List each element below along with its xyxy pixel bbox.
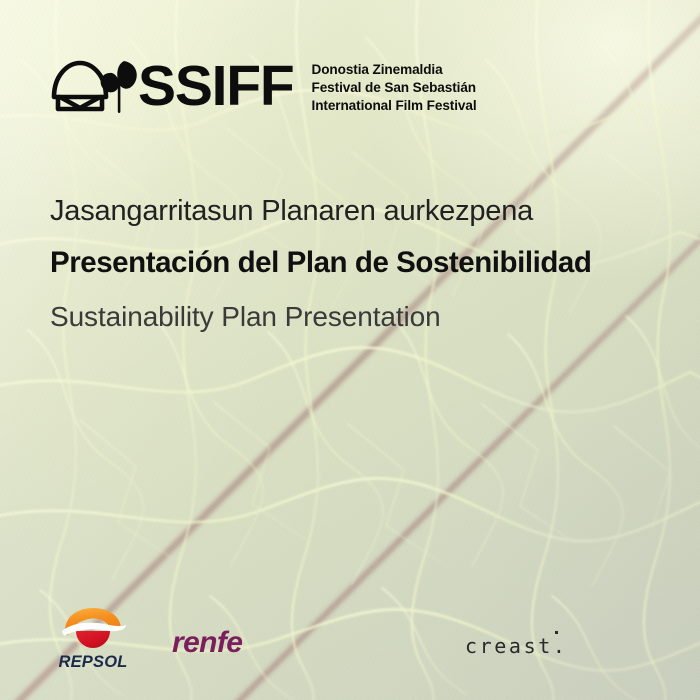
poster-canvas: SSIFF Donostia Zinemaldia Festival de Sa… [0, 0, 700, 700]
page-title-english: Sustainability Plan Presentation [50, 290, 660, 344]
ssiff-wordmark: SSIFF [138, 58, 294, 115]
repsol-wordmark: REPSOL [52, 654, 134, 671]
ssiff-logo-lockup[interactable]: SSIFF Donostia Zinemaldia Festival de Sa… [48, 50, 477, 124]
sponsor-repsol[interactable]: REPSOL [52, 607, 134, 671]
sponsor-creast[interactable]: creast. [465, 636, 568, 656]
renfe-logo-icon: renfe [172, 628, 242, 658]
ssiff-tagline: Donostia Zinemaldia Festival de San Seba… [312, 61, 477, 115]
title-block: Jasangarritasun Planaren aurkezpena Pres… [50, 186, 660, 344]
repsol-red-half [74, 631, 114, 651]
texture-speck [555, 631, 558, 634]
creast-logo-icon: creast. [465, 636, 568, 656]
tagline-line-english: International Film Festival [312, 97, 477, 115]
page-title-spanish: Presentación del Plan de Sostenibilidad [50, 236, 660, 290]
tagline-line-spanish: Festival de San Sebastián [312, 79, 477, 97]
ssiff-logo-mark [48, 55, 140, 119]
sprout-icon [101, 61, 137, 113]
tagline-line-basque: Donostia Zinemaldia [312, 61, 477, 79]
poster-content: SSIFF Donostia Zinemaldia Festival de Sa… [0, 0, 700, 700]
repsol-logo-icon [56, 607, 130, 651]
sponsor-logo-row: REPSOL renfe creast. [0, 594, 700, 674]
scallop-shell-icon [54, 63, 106, 109]
sponsor-renfe[interactable]: renfe [172, 628, 242, 658]
page-title-basque: Jasangarritasun Planaren aurkezpena [50, 186, 660, 236]
